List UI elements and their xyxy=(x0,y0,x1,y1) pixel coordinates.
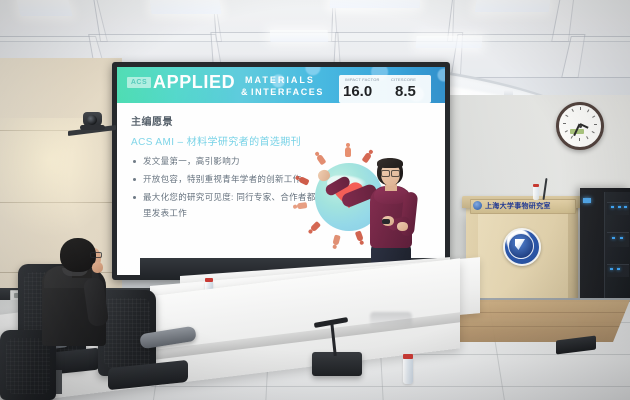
acs-logo-badge: ACS xyxy=(127,77,151,88)
bottle-cap xyxy=(403,354,413,359)
speaker-fringe xyxy=(377,158,403,168)
water-bottle xyxy=(403,358,413,384)
metric-value-1: 8.5 xyxy=(395,83,416,100)
person-figure xyxy=(362,149,375,164)
lectern-sign-emblem-icon xyxy=(473,201,482,210)
metric-label-1: CITESCORE xyxy=(391,77,416,82)
slide-bullet-1: 开放包容，特别重视青年学者的创新工作 xyxy=(143,173,301,185)
journal-title-interfaces: INTERFACES xyxy=(251,87,324,97)
person-figure xyxy=(345,143,351,157)
person-figure xyxy=(331,234,340,249)
person-figure xyxy=(307,221,321,235)
floor-reflection xyxy=(468,318,578,332)
person-figure xyxy=(293,202,308,210)
speaker-right-hand-front xyxy=(397,222,408,231)
person-figure xyxy=(294,174,309,185)
journal-title-materials: MATERIALS xyxy=(245,75,315,85)
slide-subtitle: ACS AMI – 材料学研究者的首选期刊 xyxy=(131,133,301,148)
presentation-clicker xyxy=(382,219,390,224)
wall-clock xyxy=(556,102,604,150)
rack-status-led xyxy=(583,198,591,203)
lectern-sign-text: 上海大学事物研究室 xyxy=(485,201,551,211)
clock-center xyxy=(579,125,582,128)
acs-logo-text: ACS xyxy=(127,77,151,88)
attendee-glasses-icon xyxy=(90,252,102,258)
journal-title-ampersand: & xyxy=(241,87,248,97)
slide-bullet-3: 里发表工作 xyxy=(143,207,187,219)
university-seal-inner xyxy=(508,233,534,259)
attendee-hand xyxy=(92,262,103,273)
journal-banner: ACS APPLIED MATERIALS & INTERFACES IMPAC… xyxy=(117,67,445,103)
metric-value-0: 16.0 xyxy=(343,83,372,100)
person-figure xyxy=(355,230,365,245)
slide-title: 主编愿景 xyxy=(131,113,173,128)
metric-label-0: IMPACT FACTOR xyxy=(345,77,380,82)
speaker-glasses-icon xyxy=(381,170,400,175)
camera-lens-icon xyxy=(87,115,97,125)
slide-bullet-0: 发文量第一，高引影响力 xyxy=(143,155,240,167)
lectern-bottle-cap xyxy=(533,184,539,187)
camera-base xyxy=(80,125,105,130)
desk-microphone-base xyxy=(312,352,362,376)
person-figure xyxy=(314,151,327,166)
lectern-water-bottle xyxy=(533,186,539,200)
floor-reflection xyxy=(370,312,412,328)
journal-title-applied: APPLIED xyxy=(153,72,235,93)
journal-metrics: IMPACT FACTOR 16.0 CITESCORE 8.5 xyxy=(339,75,431,103)
presentation-room-photo: ACS APPLIED MATERIALS & INTERFACES IMPAC… xyxy=(0,0,630,400)
